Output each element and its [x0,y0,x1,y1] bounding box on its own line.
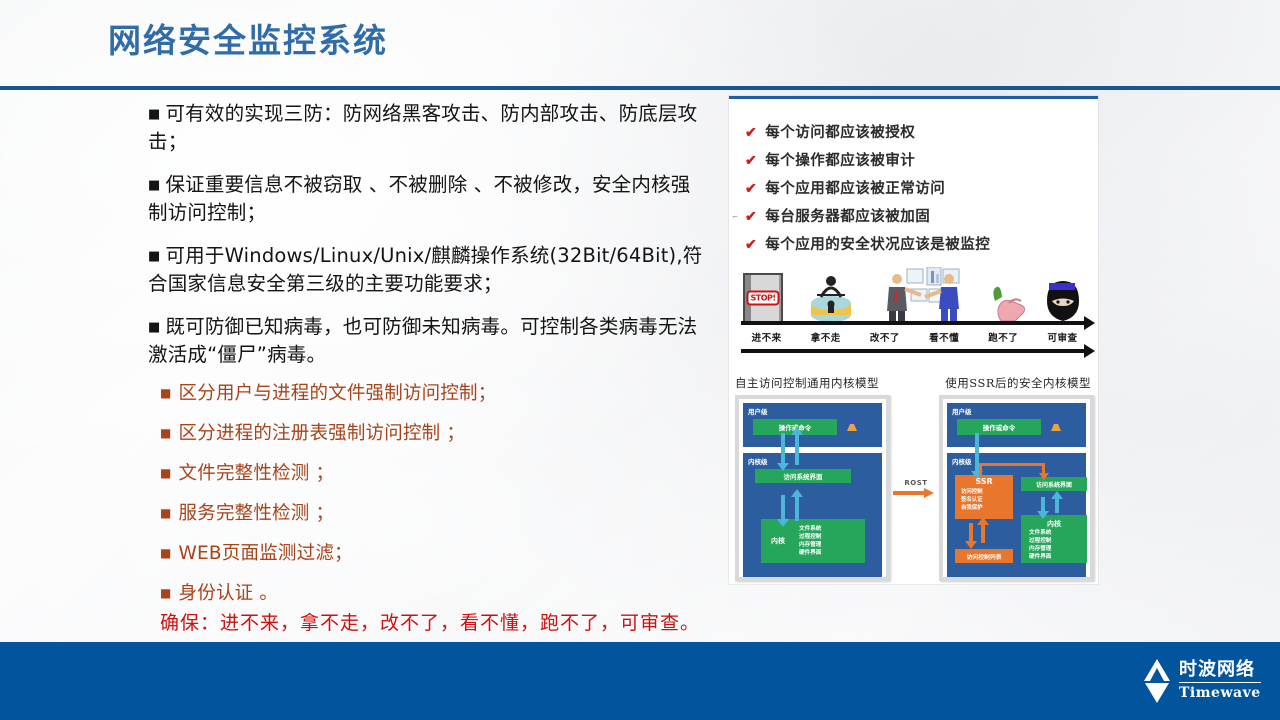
square-bullet-icon: ■ [160,546,172,560]
timewave-wave-icon [1140,655,1174,705]
ssr-feature: 访问控制 [961,488,1011,496]
flow-arrow-up [795,435,799,465]
paragraph-text: 可用于Windows/Linux/Unix/麒麟操作系统(32Bit/64Bit… [148,244,702,295]
feature-bullet-text: WEB页面监测过滤； [179,543,353,564]
check-icon: ✔ [745,237,757,253]
avatar-body [1051,424,1061,431]
feature-bullet-item: ■区分用户与进程的文件强制访问控制； [160,383,720,404]
stage-label: 看不懂 [915,330,974,344]
logo-name-cn: 时波网络 [1179,661,1261,679]
checklist-item-label: 每台服务器都应该被加固 [765,205,930,226]
kernel-level-label: 内核级 [748,456,768,466]
paragraph-item: ■保证重要信息不被窃取 、不被删除 、不被修改，安全内核强制访问控制； [148,171,708,226]
ssr-feature-list: 访问控制 签名认证 自我保护 [957,488,1011,512]
avatar-body [847,424,857,431]
kernel-feature: 文件系统 [799,525,821,533]
kernel-feature: 内存管理 [799,541,821,549]
acl-arrow-up-head [977,517,989,525]
feature-bullet-text: 区分进程的注册表强制访问控制 ； [179,423,466,444]
ssr-title: SSR [957,477,1011,486]
ssr-box: SSR 访问控制 签名认证 自我保护 [955,475,1013,519]
feature-bullet-item: ■区分进程的注册表强制访问控制 ； [160,423,720,444]
rost-arrow-shaft [893,491,925,495]
check-icon: ✔ [745,125,757,141]
check-icon: ✔ [745,153,757,169]
checklist-item: ✔ 每个访问都应该被授权 [745,121,1085,142]
ssr-bridge-arrow-head [1039,473,1049,480]
kernel-feature: 内存管理 [1029,545,1087,553]
square-bullet-icon: ■ [160,466,172,480]
kernel-feature-list: 文件系统 过程控制 内存管理 硬件界面 [1021,529,1087,561]
flow-arrow-up-2-head [791,489,803,497]
acl-arrow-up [981,525,985,543]
square-bullet-icon: ■ [148,249,160,264]
stage-label-row: 进不来 拿不走 改不了 看不懂 跑不了 可审查 [737,330,1092,344]
slide-canvas: 网络安全监控系统 ■可有效的实现三防：防网络黑客攻击、防内部攻击、防底层攻击； … [0,0,1280,720]
kernel-feature: 过程控制 [1029,537,1087,545]
user-avatar-icon [1051,419,1061,431]
feature-bullet-item: ■服务完整性检测 ； [160,503,720,524]
logo-name-en: Timewave [1179,686,1261,700]
diagram-caption-left: 自主访问控制通用内核模型 [735,375,879,391]
flow-arrow-down-2-head [777,519,789,527]
stray-artifact-mark: ⌐ [732,213,738,221]
ssr-feature: 签名认证 [961,496,1011,504]
logo-divider [1179,682,1261,683]
diagram-ssr-kernel-model: 用户级 操作或命令 内核级 SSR 访问控制 [939,395,1094,581]
square-bullet-icon: ■ [160,586,172,600]
checklist-item: ✔ 每台服务器都应该被加固 [745,205,1085,226]
check-icon: ✔ [745,181,757,197]
stop-sign-label: STOP! [746,291,779,306]
kernel-box-title: 内核 [761,536,795,546]
kernel-level-band: 内核级 SSR 访问控制 签名认证 自我保护 访问控制列表 访问系统界面 [947,453,1086,577]
square-bullet-icon: ■ [160,386,172,400]
rost-arrow-graphic [893,489,939,496]
ssr-feature: 自我保护 [961,504,1011,512]
principles-checklist: ✔ 每个访问都应该被授权 ✔ 每个操作都应该被审计 ✔ 每个应用都应该被正常访问… [745,121,1085,261]
logo-text-block: 时波网络 Timewave [1179,661,1261,700]
paragraph-item: ■既可防御已知病毒，也可防御未知病毒。可控制各类病毒无法激活成“僵尸”病毒。 [148,313,708,368]
paragraph-text: 保证重要信息不被窃取 、不被删除 、不被修改，安全内核强制访问控制； [148,173,690,224]
rost-arrow-head [924,488,934,498]
user-action-box: 操作或命令 [957,419,1041,435]
header-divider [0,86,1280,90]
kernel-level-label: 内核级 [952,456,972,466]
kernel-box: 内核 文件系统 过程控制 内存管理 硬件界面 [1021,515,1087,563]
feature-bullet-list: ■区分用户与进程的文件强制访问控制； ■区分进程的注册表强制访问控制 ； ■文件… [160,383,720,623]
ssr-bridge-arrow [979,463,1045,466]
flow-arrow-up-head [791,427,803,435]
diagram-dac-kernel-model: 用户级 操作或命令 内核级 访问系统界面 内核 [735,395,890,581]
checklist-item: ✔ 每个操作都应该被审计 [745,149,1085,170]
feature-bullet-text: 服务完整性检测 ； [179,503,335,524]
diagram-left-inner: 用户级 操作或命令 内核级 访问系统界面 内核 [739,399,886,577]
acl-box: 访问控制列表 [955,549,1013,563]
stage-label: 改不了 [855,330,914,344]
kernel-feature: 过程控制 [799,533,821,541]
kernel-box-title: 内核 [1021,515,1087,529]
rost-transition-arrow: ROST [893,479,939,496]
square-bullet-icon: ■ [148,107,160,122]
kernel-feature: 硬件界面 [799,549,821,557]
company-logo: 时波网络 Timewave [1140,648,1266,712]
checklist-item-label: 每个操作都应该被审计 [765,149,915,170]
avatar-head [849,419,855,423]
diagram-caption-right: 使用SSR后的安全内核模型 [945,375,1091,391]
user-level-band: 用户级 操作或命令 [743,403,882,447]
illustration-icon-row: STOP! [737,265,1092,323]
kernel-model-diagrams: 用户级 操作或命令 内核级 访问系统界面 内核 [733,395,1094,581]
two-people-documents-icon [877,267,967,323]
system-interface-box: 访问系统界面 [755,469,851,483]
paragraph-item: ■可用于Windows/Linux/Unix/麒麟操作系统(32Bit/64Bi… [148,242,708,297]
thief-on-safe-icon [807,273,855,323]
feature-bullet-text: 区分用户与进程的文件强制访问控制； [179,383,497,404]
checklist-item: ✔ 每个应用的安全状况应该是被监控 [745,233,1085,254]
diagram-caption-row: 自主访问控制通用内核模型 使用SSR后的安全内核模型 [735,375,1091,391]
flow-arrow-down-2 [781,495,785,521]
checklist-item-label: 每个应用的安全状况应该是被监控 [765,233,990,254]
stage-label: 可审查 [1033,330,1092,344]
feature-bullet-item: ■文件完整性检测 ； [160,463,720,484]
paragraph-text: 既可防御已知病毒，也可防御未知病毒。可控制各类病毒无法激活成“僵尸”病毒。 [148,315,697,366]
user-avatar-icon [847,419,857,431]
feature-bullet-item: ■WEB页面监测过滤； [160,543,720,564]
stage-label: 跑不了 [974,330,1033,344]
kernel-arrow-up-head [1051,491,1063,499]
feature-bullet-text: 身份认证 。 [179,583,279,604]
kernel-arrow-down-head [1037,511,1049,519]
rost-label: ROST [893,479,939,487]
checklist-item: ✔ 每个应用都应该被正常访问 [745,177,1085,198]
kernel-feature: 硬件界面 [1029,553,1087,561]
diagram-right-inner: 用户级 操作或命令 内核级 SSR 访问控制 [943,399,1090,577]
square-bullet-icon: ■ [160,506,172,520]
progress-arrow-bottom [741,349,1086,353]
user-level-band: 用户级 操作或命令 [947,403,1086,447]
flow-arrow-up-2 [795,497,799,521]
stage-label: 拿不走 [796,330,855,344]
square-bullet-icon: ■ [148,178,160,193]
defense-stages-illustration: STOP! [737,265,1092,365]
kernel-level-band: 内核级 访问系统界面 内核 文件系统 过程控制 内存管理 硬件界面 [743,453,882,577]
kernel-arrow-up [1055,499,1059,513]
square-bullet-icon: ■ [160,426,172,440]
user-level-label: 用户级 [952,406,972,416]
checklist-item-label: 每个应用都应该被正常访问 [765,177,945,198]
pledge-statement: 确保：进不来，拿不走，改不了，看不懂，跑不了，可审查。 [160,608,700,635]
security-illustration-panel: ✔ 每个访问都应该被授权 ✔ 每个操作都应该被审计 ✔ 每个应用都应该被正常访问… [729,96,1098,584]
progress-arrow-top [741,321,1086,325]
checklist-item-label: 每个访问都应该被授权 [765,121,915,142]
acl-arrow-down-head [965,541,977,549]
system-interface-box: 访问系统界面 [1021,477,1087,491]
flow-arrow-down [781,433,785,465]
flow-arrow-down-head [777,463,789,471]
kernel-feature-list: 文件系统 过程控制 内存管理 硬件界面 [795,525,821,557]
check-icon: ✔ [745,209,757,225]
avatar-head [1053,419,1059,423]
ssr-bridge-arrow-left [979,463,982,477]
page-title: 网络安全监控系统 [108,14,388,62]
footer-bar [0,642,1280,720]
feature-bullet-item: ■身份认证 。 [160,583,720,604]
stop-door-icon: STOP! [743,273,783,323]
masked-person-icon [1041,279,1085,323]
paragraph-text: 可有效的实现三防：防网络黑客攻击、防内部攻击、防底层攻击； [148,102,697,153]
feature-bullet-text: 文件完整性检测 ； [179,463,335,484]
square-bullet-icon: ■ [148,320,160,335]
hand-grabbing-icon [985,277,1027,323]
body-paragraph-list: ■可有效的实现三防：防网络黑客攻击、防内部攻击、防底层攻击； ■保证重要信息不被… [148,100,708,384]
stage-label: 进不来 [737,330,796,344]
kernel-feature: 文件系统 [1029,529,1087,537]
user-level-label: 用户级 [748,406,768,416]
paragraph-item: ■可有效的实现三防：防网络黑客攻击、防内部攻击、防底层攻击； [148,100,708,155]
acl-arrow-down [969,523,973,543]
